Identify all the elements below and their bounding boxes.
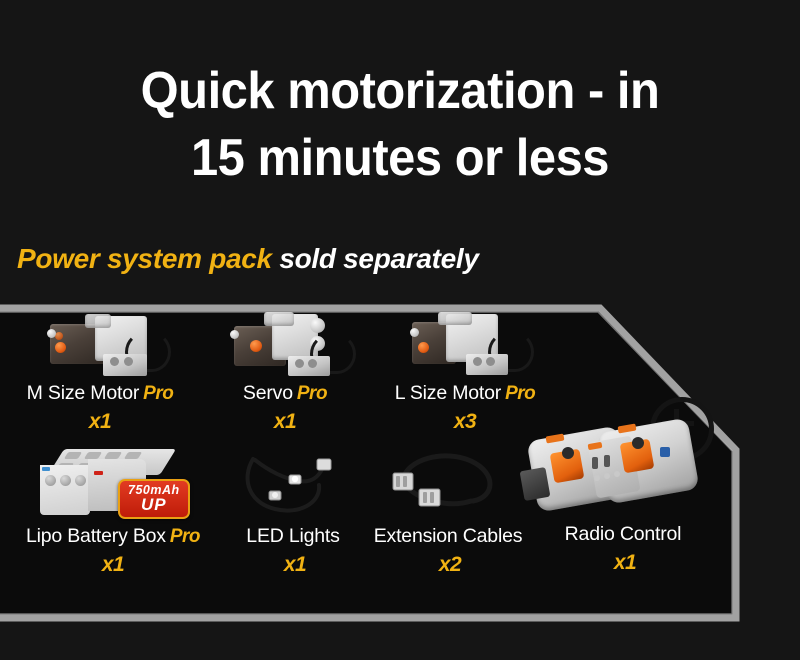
pro-badge: Pro [297,383,327,404]
product-servo[interactable]: ServoPro x1 [190,310,380,432]
product-quantity: x1 [190,411,380,432]
product-radio-control[interactable]: Radio Control x1 [530,395,720,573]
product-label: Lipo Battery BoxPro [0,527,228,547]
product-quantity: x2 [355,554,545,575]
product-label: LED Lights [230,527,360,547]
product-label: ServoPro [190,384,380,404]
m-size-motor-icon [25,310,175,380]
servo-motor-icon [210,310,360,380]
promo-banner: Quick motorization - in 15 minutes or le… [0,0,800,660]
badge-line-2: UP [128,496,180,513]
product-quantity: x1 [0,411,200,432]
product-quantity: x1 [230,554,360,575]
subtitle-highlight: Power system pack [17,243,272,274]
lipo-battery-box-icon: 750mAh UP [18,445,208,525]
cable-loops [375,445,525,525]
product-grid: M Size MotorPro x1 ServoPro x1 [0,300,760,630]
product-led-lights[interactable]: LED Lights x1 [230,445,360,575]
product-label: Radio Control [530,525,720,545]
product-m-size-motor[interactable]: M Size MotorPro x1 [0,310,200,432]
product-label: Extension Cables [355,527,545,547]
led-lights-icon [235,445,355,525]
capacity-badge: 750mAh UP [118,479,190,519]
product-extension-cables[interactable]: Extension Cables x2 [355,445,545,575]
l-size-motor-icon [390,310,540,380]
radio-control-icon [530,395,720,525]
product-quantity: x1 [0,554,228,575]
led-wires [235,445,355,525]
pro-badge: Pro [170,526,200,547]
subtitle-plain-text: sold separately [279,243,478,274]
pro-badge: Pro [143,383,173,404]
extension-cables-icon [375,445,525,525]
product-lipo-battery-box[interactable]: 750mAh UP Lipo Battery BoxPro x1 [0,445,228,575]
product-quantity: x1 [530,552,720,573]
page-title: Quick motorization - in 15 minutes or le… [24,58,776,191]
product-label: M Size MotorPro [0,384,200,404]
subtitle: Power system pack sold separately [17,243,479,275]
